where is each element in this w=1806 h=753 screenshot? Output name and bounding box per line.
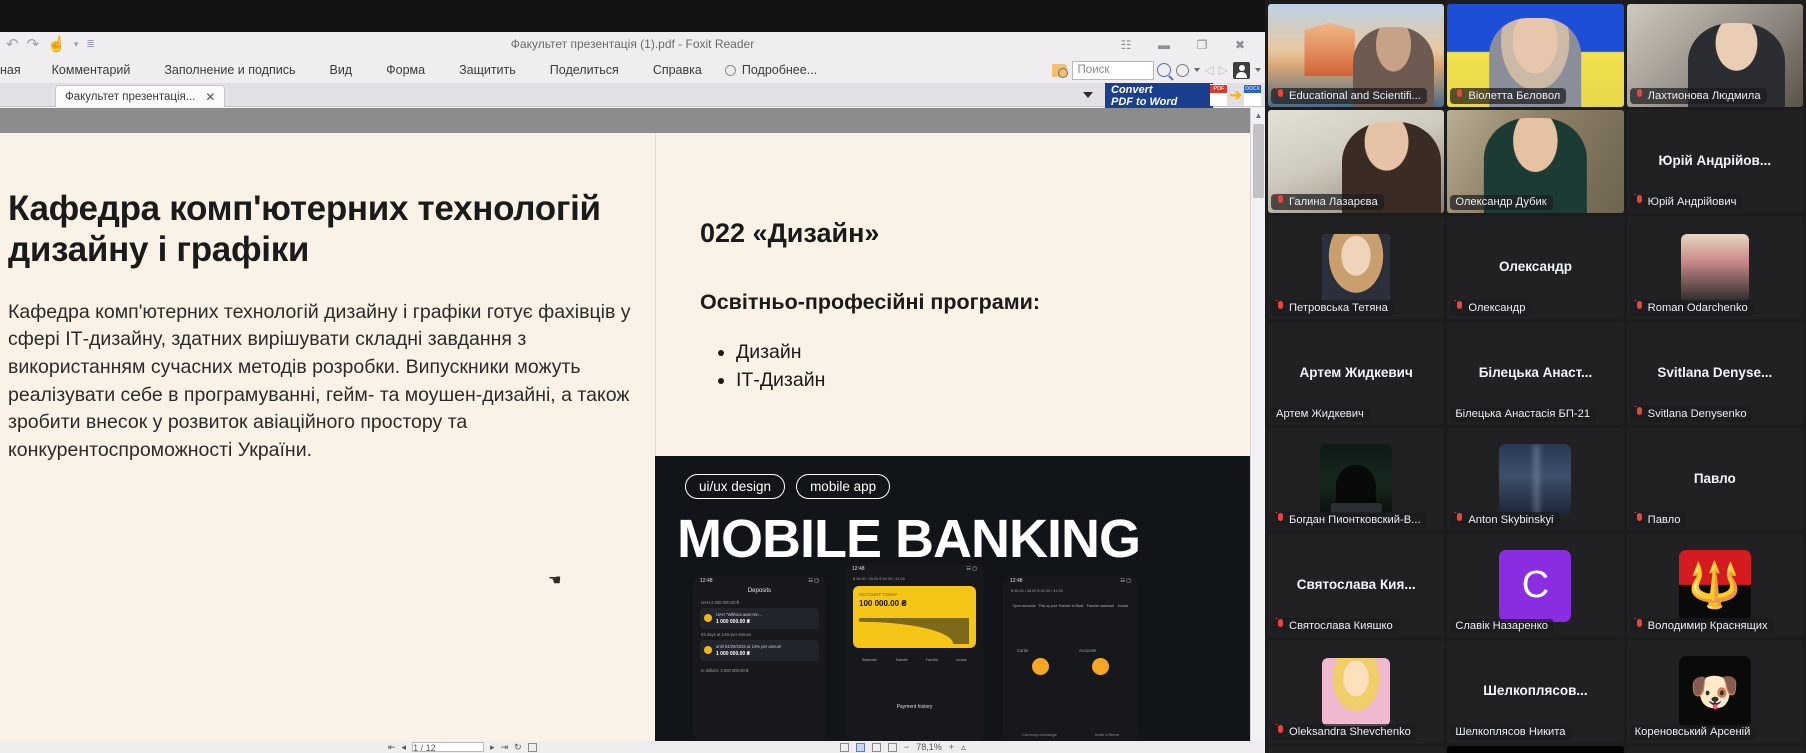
ribbon-more-label: Подробнее...: [742, 63, 817, 77]
participant-name: Svitlana Denysenko: [1648, 408, 1747, 420]
btn-label: Open accounts: [1013, 604, 1036, 608]
dot-icon: [704, 646, 712, 654]
col-cards: Cards: [1017, 648, 1028, 653]
participant-name: Богдан Пионтковский-В...: [1289, 514, 1421, 526]
zoom-level[interactable]: 78,1%: [916, 742, 942, 752]
list-item: ІТ-Дизайн: [736, 366, 825, 394]
convert-icons: ➔: [1210, 84, 1261, 106]
right-slide-title: 022 «Дизайн»: [700, 218, 879, 249]
avatar: [1322, 658, 1390, 726]
ribbon-item-fill-sign[interactable]: Заполнение и подпись: [147, 57, 312, 83]
participant-tile[interactable]: Лахтионова Людмила: [1627, 4, 1803, 107]
phone-mockup-account: 12:48☵ ▢ $ 36.00 / 26.00 € 40.30 / 41.00…: [845, 564, 984, 741]
status-bar[interactable]: ⇤ ◂ 1 / 12 ▸ ⇥ ↻ − 78,1% + ▵: [0, 741, 1265, 753]
participant-tile[interactable]: Oleksandra Shevchenko: [1268, 640, 1444, 743]
participant-tile[interactable]: [1268, 746, 1444, 753]
phone-mockup-services: 12:48☵ ▢ $ 36.00 / 26.00 € 40.30 / 41.00…: [1003, 576, 1138, 741]
participant-tile[interactable]: ОлександрОлександр: [1447, 216, 1623, 319]
participant-name: Юрій Андрійович: [1648, 196, 1737, 208]
participant-tile[interactable]: Білецька Анаст...Білецька Анастасія БП-2…: [1447, 322, 1623, 425]
docx-file-icon: [1244, 84, 1261, 106]
image-headline: MOBILE BANKING: [677, 508, 1140, 570]
document-tab-strip: Факультет презентація... ✕: [0, 83, 1265, 107]
ribbon-item-more[interactable]: Подробнее...: [719, 63, 817, 77]
zoom-out-icon[interactable]: −: [904, 742, 909, 752]
screen: ↶ ↷ ☝ ▾ ≣ Факультет презентація (1).pdf …: [0, 0, 1806, 753]
ribbon-item-protect[interactable]: Защитить: [442, 57, 533, 83]
slide-body-text: Кафедра комп'ютерних технологій дизайну …: [8, 299, 638, 465]
phone-balances: $ 36.00 / 26.00 € 40.30 / 41.00: [1011, 589, 1063, 593]
phone-section-title: Payment history: [845, 704, 984, 710]
participant-name-badge: Олександр: [1450, 300, 1531, 316]
scroll-up-icon[interactable]: ▲: [1251, 108, 1265, 123]
account-card: ACCOUNT TODAY 100 000.00 ₴: [853, 586, 976, 648]
participant-tile[interactable]: [1627, 746, 1803, 753]
participant-name-badge: Богдан Пионтковский-В...: [1271, 512, 1427, 528]
phone-row: UAH "Without auto-ren... 1 000 000.00 ₴: [700, 608, 819, 629]
participant-display-name: Юрій Андрійов...: [1627, 153, 1803, 168]
participant-name: Павло: [1648, 514, 1681, 526]
ribbon-item-view[interactable]: Вид: [312, 57, 369, 83]
participant-display-name: Шелкоплясов...: [1447, 683, 1623, 698]
participant-tile[interactable]: ССлавік Назаренко: [1447, 534, 1623, 637]
participant-name-badge: Володимир Краснящих: [1630, 618, 1774, 634]
dot-icon: [704, 614, 712, 622]
pdf-viewport[interactable]: Кафедра комп'ютерних технологій дизайну …: [0, 108, 1250, 741]
participant-name-badge: Svitlana Denysenko: [1630, 406, 1753, 422]
participant-name-badge: Educational and Scientifi...: [1271, 88, 1427, 104]
action-buttons: Replenish Transfer Favorite Invoice: [853, 656, 976, 662]
participant-tile[interactable]: Галина Лазарєва: [1268, 110, 1444, 213]
participant-tile[interactable]: Богдан Пионтковский-В...: [1268, 428, 1444, 531]
btn-label: Invoice: [956, 658, 967, 662]
participant-name: Лахтионова Людмила: [1648, 90, 1761, 102]
continuous-view-icon[interactable]: [856, 743, 865, 752]
participant-name-badge: Білецька Анастасія БП-21: [1450, 407, 1596, 422]
participant-name-badge: Святослава Кияшко: [1271, 618, 1399, 634]
phone-footer: In dollars: 3 000 000.00 $: [701, 668, 748, 673]
page-title: Кафедра комп'ютерних технологій дизайну …: [8, 188, 638, 271]
avatar: [1681, 234, 1749, 302]
close-icon[interactable]: ✕: [205, 90, 215, 104]
folder-search-icon[interactable]: [1052, 64, 1067, 77]
participant-video-feed: [1627, 746, 1803, 753]
avatar: 🔱: [1679, 550, 1751, 622]
participant-tile[interactable]: Юрій Андрійов...Юрій Андрійович: [1627, 110, 1803, 213]
title-bar: ↶ ↷ ☝ ▾ ≣ Факультет презентація (1).pdf …: [0, 32, 1265, 57]
participant-video-feed: [1447, 746, 1623, 753]
right-slide-list: Дизайн ІТ-Дизайн: [722, 338, 825, 395]
arrow-right-icon: ➔: [1229, 86, 1242, 104]
minimize-icon[interactable]: ▬: [1145, 34, 1183, 56]
last-page-icon[interactable]: ⇥: [501, 742, 509, 753]
phone-footer-links: Currency exchange Invite a friend: [1003, 732, 1138, 737]
lightbulb-icon: [725, 65, 736, 76]
participant-name: Святослава Кияшко: [1289, 620, 1393, 632]
participant-name-badge: Юрій Андрійович: [1630, 194, 1743, 210]
participant-name-badge: Oleksandra Shevchenko: [1271, 724, 1417, 740]
participant-display-name: Svitlana Denyse...: [1627, 365, 1803, 380]
participant-display-name: Білецька Анаст...: [1447, 365, 1623, 380]
participant-name-badge: Олександр Дубик: [1450, 195, 1552, 210]
avatar: С: [1499, 550, 1571, 622]
participant-grid: Educational and Scientifi...Віолетта Бєл…: [1268, 4, 1803, 753]
participant-display-name: Святослава Кия...: [1268, 577, 1444, 592]
promo-line-2: PDF to Word: [1111, 96, 1177, 108]
dog-icon: 🐶: [1690, 668, 1740, 715]
participant-tile[interactable]: Roman Odarchenko: [1627, 216, 1803, 319]
facing-view-icon[interactable]: [872, 743, 881, 752]
card-label: ACCOUNT TODAY: [859, 592, 897, 597]
participant-name-badge: Віолетта Бєловол: [1450, 88, 1566, 104]
ribbon-item-help[interactable]: Справка: [636, 57, 719, 83]
search-icon[interactable]: [1157, 63, 1171, 77]
chart-curve: [859, 618, 969, 644]
tag-uiux: ui/ux design: [685, 474, 785, 499]
phone-time: 12:48: [1010, 578, 1023, 584]
tag-mobile-app: mobile app: [796, 474, 890, 499]
view-controls[interactable]: − 78,1% + ▵: [840, 742, 966, 753]
participant-name-badge: Anton Skybinskyi: [1450, 512, 1559, 528]
btn-label: Favorite cashback: [1087, 604, 1115, 608]
account-icon: [1092, 658, 1109, 675]
btn-label: Invoice: [1118, 604, 1129, 608]
phone-status-bar: 12:48☵ ▢: [1003, 576, 1138, 586]
page-number-input[interactable]: 1 / 12: [412, 742, 484, 752]
btn-label: Pick up your Transfer to Bank: [1039, 604, 1083, 608]
participant-name-badge: Петровська Тетяна: [1271, 300, 1394, 316]
mic-muted-icon: [1635, 301, 1644, 314]
participant-video-feed: [1268, 746, 1444, 753]
avatar-initial: С: [1499, 550, 1571, 622]
restore-grid-icon[interactable]: ☷: [1107, 34, 1145, 56]
participant-name: Володимир Краснящих: [1648, 620, 1768, 632]
tab-label: Факультет презентація...: [65, 91, 195, 103]
phone-screen-title: Deposits: [693, 588, 826, 594]
ribbon-item-comment[interactable]: Комментарий: [35, 57, 148, 83]
mic-muted-icon: [1455, 89, 1464, 102]
card-value: 100 000.00 ₴: [859, 599, 907, 608]
avatar: [1499, 444, 1571, 516]
participant-tile[interactable]: Svitlana Denyse...Svitlana Denysenko: [1627, 322, 1803, 425]
participant-name: Галина Лазарєва: [1289, 196, 1378, 208]
participant-name: Шелкоплясов Никита: [1455, 726, 1565, 738]
promo-line-1: Convert: [1111, 84, 1153, 96]
participant-name-badge: Славік Назаренко: [1450, 619, 1554, 634]
grid-view-icon[interactable]: [888, 743, 897, 752]
participant-name-badge: Roman Odarchenko: [1630, 300, 1754, 316]
chevron-down-icon[interactable]: [1083, 92, 1093, 98]
video-conference-panel: Educational and Scientifi...Віолетта Бєл…: [1265, 0, 1806, 753]
single-page-icon[interactable]: [840, 743, 849, 752]
mic-muted-icon: [1455, 513, 1464, 526]
account-avatar-icon[interactable]: [1233, 62, 1250, 79]
ribbon-item-home[interactable]: ная: [0, 57, 35, 83]
participant-name: Славік Назаренко: [1455, 620, 1548, 632]
row-value: 1 000 000.00 ₴: [716, 619, 750, 625]
col-accounts: Accounts: [1079, 648, 1096, 653]
account-chevron-down-icon[interactable]: [1255, 68, 1261, 72]
participant-name: Петровська Тетяна: [1289, 302, 1388, 314]
row-label: until 04/29/2026 at 14% per annum: [716, 644, 781, 649]
ribbon-item-share[interactable]: Поделиться: [533, 57, 636, 83]
participant-name: Кореновський Арсеній: [1635, 726, 1751, 738]
scrollbar-thumb[interactable]: [1253, 124, 1264, 198]
participant-tile[interactable]: Educational and Scientifi...: [1268, 4, 1444, 107]
mic-muted-icon: [1276, 619, 1285, 632]
mic-muted-icon: [1276, 195, 1285, 208]
phone-balances: $ 36.00 / 26.00 € 40.30 / 41.00: [853, 577, 905, 581]
foxit-reader-window: ↶ ↷ ☝ ▾ ≣ Факультет презентація (1).pdf …: [0, 0, 1265, 753]
participant-name: Білецька Анастасія БП-21: [1455, 408, 1590, 420]
fullscreen-icon[interactable]: ▵: [961, 742, 966, 753]
participant-name-badge: Шелкоплясов Никита: [1450, 725, 1571, 740]
zoom-in-icon[interactable]: +: [949, 742, 954, 752]
os-top-bar: [0, 0, 1265, 32]
participant-name-badge: Артем Жидкевич: [1271, 407, 1370, 422]
participant-tile[interactable]: Артем ЖидкевичАртем Жидкевич: [1268, 322, 1444, 425]
participant-tile[interactable]: [1447, 746, 1623, 753]
maximize-icon[interactable]: ❐: [1183, 34, 1221, 56]
participant-name-badge: Лахтионова Людмила: [1630, 88, 1767, 104]
participant-name: Віолетта Бєловол: [1468, 90, 1560, 102]
window-controls[interactable]: ☷ ▬ ❐ ✖: [1107, 34, 1259, 56]
phone-row: until 04/29/2026 at 14% per annum 1 000 …: [700, 640, 819, 661]
sky-image: [1499, 444, 1571, 516]
participant-name: Anton Skybinskyi: [1468, 514, 1553, 526]
gear-icon[interactable]: [1176, 64, 1189, 77]
participant-tile[interactable]: Віолетта Бєловол: [1447, 4, 1623, 107]
mic-muted-icon: [1276, 301, 1285, 314]
card-account-icons: [1011, 658, 1130, 675]
page-navigation[interactable]: ⇤ ◂ 1 / 12 ▸ ⇥ ↻: [388, 742, 537, 753]
list-item: Дизайн: [736, 338, 825, 366]
slide-left: Кафедра комп'ютерних технологій дизайну …: [8, 188, 638, 465]
first-page-icon[interactable]: ⇤: [388, 742, 396, 753]
nav-prev-icon[interactable]: ◁: [1205, 63, 1214, 77]
participant-name-badge: Кореновський Арсеній: [1630, 725, 1757, 740]
avatar: 🐶: [1679, 656, 1751, 728]
mouse-cursor-hand-icon: ☚: [548, 571, 561, 589]
phone-row-caption: 03 days at 14% per annum: [701, 632, 751, 637]
participant-name: Educational and Scientifi...: [1289, 90, 1421, 102]
participant-name-badge: Павло: [1630, 512, 1687, 528]
mic-muted-icon: [1276, 513, 1285, 526]
btn-label: Favorite: [926, 658, 938, 662]
search-input[interactable]: Поиск: [1072, 61, 1154, 80]
footer-invite-friend: Invite a friend: [1095, 732, 1119, 737]
mic-muted-icon: [1635, 513, 1644, 526]
participant-tile[interactable]: 🔱Володимир Краснящих: [1627, 534, 1803, 637]
mobile-banking-image: ui/ux design mobile app MOBILE BANKING 1…: [655, 456, 1250, 741]
phone-time: 12:48: [700, 578, 713, 584]
participant-tile[interactable]: ПавлоПавло: [1627, 428, 1803, 531]
mic-muted-icon: [1635, 407, 1644, 420]
participant-tile[interactable]: 🐶Кореновський Арсеній: [1627, 640, 1803, 743]
phone-status-bar: 12:48☵ ▢: [693, 576, 826, 586]
tryzub-icon: 🔱: [1687, 564, 1742, 608]
image-tags: ui/ux design mobile app: [685, 474, 890, 499]
close-icon[interactable]: ✖: [1221, 34, 1259, 56]
participant-tile[interactable]: Anton Skybinskyi: [1447, 428, 1623, 531]
ribbon-item-form[interactable]: Форма: [369, 57, 442, 83]
mic-muted-icon: [1635, 89, 1644, 102]
phone-mockup-deposits: 12:48☵ ▢ Deposits UAH 2 000 000.00 ₴ UAH…: [693, 576, 826, 741]
ribbon-right-tools[interactable]: Поиск ◁ ▷: [1052, 57, 1261, 83]
participant-name: Roman Odarchenko: [1648, 302, 1748, 314]
next-page-icon[interactable]: ▸: [490, 742, 495, 753]
phone-row-caption: UAH 2 000 000.00 ₴: [701, 600, 739, 605]
participant-name: Олександр Дубик: [1455, 196, 1546, 208]
mic-muted-icon: [1276, 89, 1285, 102]
phone-status-bar: 12:48☵ ▢: [845, 564, 984, 574]
avatar: [1320, 444, 1392, 516]
footer-currency-exchange: Currency exchange: [1022, 732, 1057, 737]
participant-tile[interactable]: Святослава Кия...Святослава Кияшко: [1268, 534, 1444, 637]
phone-time: 12:48: [852, 566, 865, 572]
participant-name: Олександр: [1468, 302, 1525, 314]
card-icon: [1032, 658, 1049, 675]
participant-display-name: Олександр: [1447, 259, 1623, 274]
fit-page-icon[interactable]: [528, 743, 537, 752]
pdf-page: Кафедра комп'ютерних технологій дизайну …: [0, 133, 1250, 741]
row-label: UAH "Without auto-ren...: [716, 612, 762, 617]
participant-name-badge: Галина Лазарєва: [1271, 194, 1384, 210]
mic-muted-icon: [1635, 619, 1644, 632]
chevron-down-icon[interactable]: [1194, 68, 1200, 72]
participant-display-name: Павло: [1627, 471, 1803, 486]
participant-tile[interactable]: Олександр Дубик: [1447, 110, 1623, 213]
right-slide-subtitle: Освітньо-професійні програми:: [700, 290, 1040, 315]
participant-tile[interactable]: Петровська Тетяна: [1268, 216, 1444, 319]
convert-pdf-to-word-banner[interactable]: Convert PDF to Word: [1105, 83, 1213, 109]
row-value: 1 000 000.00 ₴: [716, 651, 750, 657]
btn-label: Replenish: [862, 658, 877, 662]
service-buttons: Open accounts Pick up your Transfer to B…: [1011, 602, 1130, 608]
btn-label: Transfer: [895, 658, 908, 662]
participant-tile[interactable]: Шелкоплясов...Шелкоплясов Никита: [1447, 640, 1623, 743]
avatar: [1322, 234, 1390, 302]
window-title: Факультет презентація (1).pdf - Foxit Re…: [0, 32, 1265, 57]
participant-display-name: Артем Жидкевич: [1268, 365, 1444, 380]
prev-page-icon[interactable]: ◂: [402, 742, 407, 753]
nav-next-icon[interactable]: ▷: [1219, 63, 1228, 77]
participant-name: Артем Жидкевич: [1276, 408, 1364, 420]
mic-muted-icon: [1276, 725, 1285, 738]
mic-muted-icon: [1455, 301, 1464, 314]
pdf-file-icon: [1210, 84, 1227, 106]
vertical-scrollbar[interactable]: ▲: [1250, 108, 1265, 753]
mic-muted-icon: [1635, 195, 1644, 208]
participant-name: Oleksandra Shevchenko: [1289, 726, 1411, 738]
rotate-icon[interactable]: ↻: [514, 742, 522, 753]
tab-faculty-presentation[interactable]: Факультет презентація... ✕: [55, 85, 225, 107]
